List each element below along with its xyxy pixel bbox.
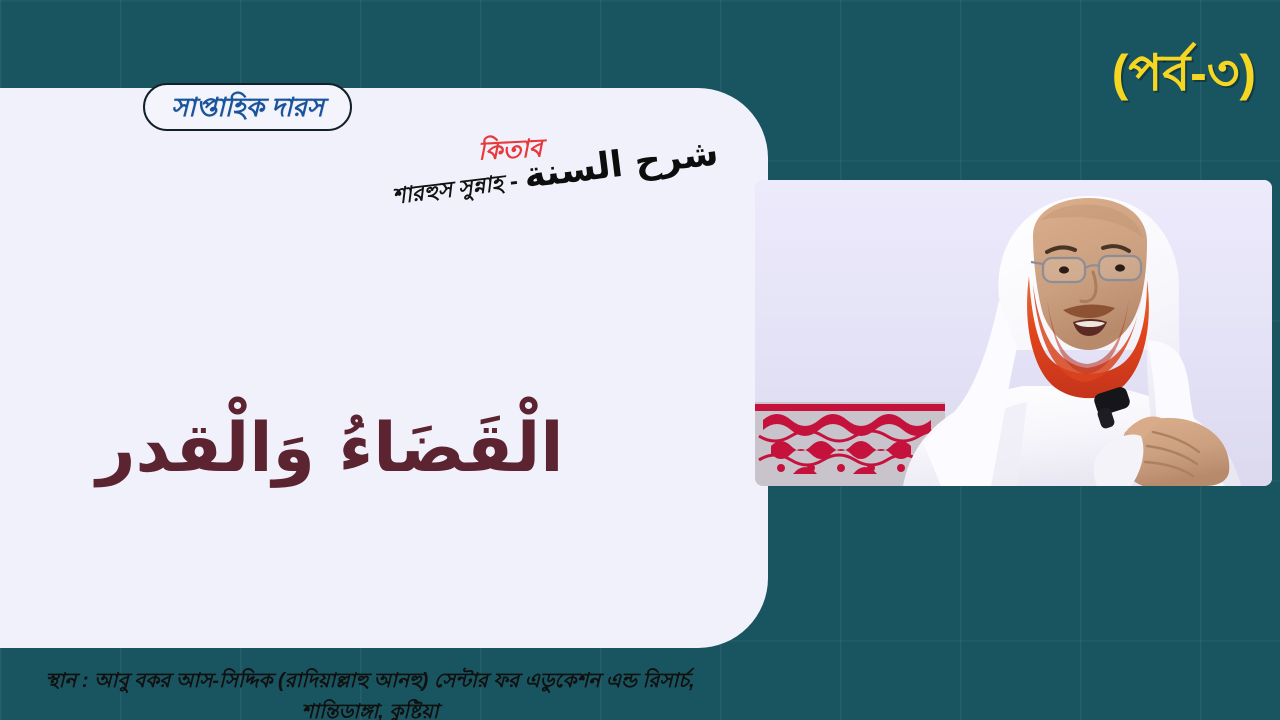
weekly-dars-badge: সাপ্তাহিক দারস <box>143 83 352 131</box>
speaker-portrait-image <box>755 180 1272 486</box>
poster-canvas: (পর্ব-৩) الْقَضَاءُ وَالْقدر স্থান : আবু… <box>0 0 1280 720</box>
weekly-dars-badge-label: সাপ্তাহিক দারস <box>171 94 324 120</box>
episode-label: (পর্ব-৩) <box>1112 48 1256 98</box>
venue-block: স্থান : আবু বকর আস-সিদ্দিক (রাদিয়াল্লাহ… <box>0 666 740 720</box>
venue-line-2: শান্তিডাঙ্গা, কুষ্টিয়া <box>0 697 740 720</box>
venue-line-1: স্থান : আবু বকর আস-সিদ্দিক (রাদিয়াল্লাহ… <box>0 666 740 697</box>
topic-title-arabic: الْقَضَاءُ وَالْقدر <box>0 406 660 491</box>
book-title-separator: - <box>508 170 519 195</box>
speaker-photo-panel <box>755 180 1272 486</box>
